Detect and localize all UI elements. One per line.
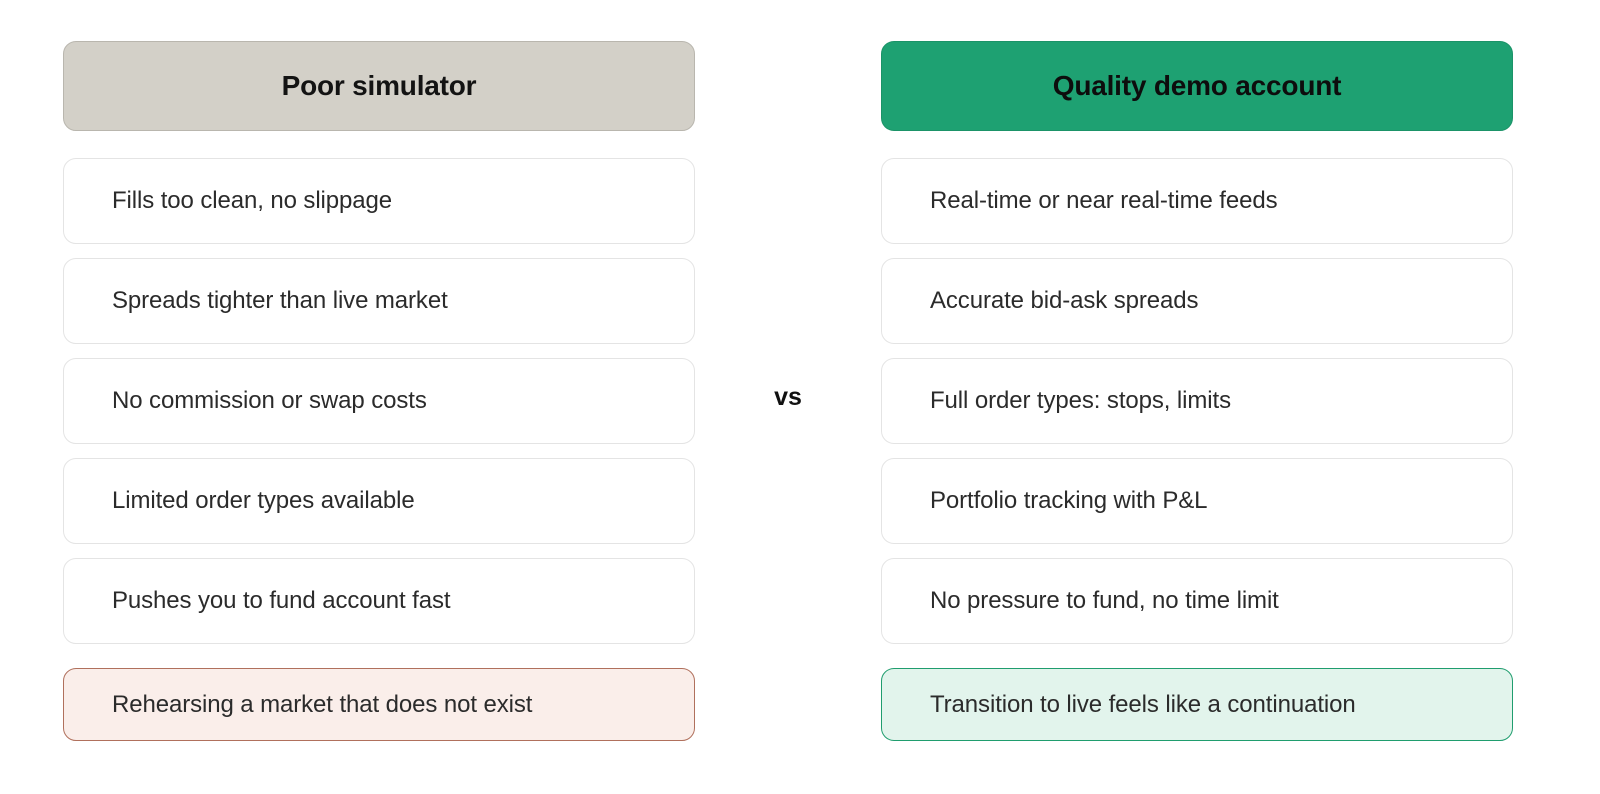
list-item-highlighted-conclusion: Transition to live feels like a continua… [881,668,1513,741]
list-item: No pressure to fund, no time limit [881,558,1513,644]
list-item: No commission or swap costs [63,358,695,444]
list-item: Accurate bid-ask spreads [881,258,1513,344]
list-item: Spreads tighter than live market [63,258,695,344]
list-item: Fills too clean, no slippage [63,158,695,244]
comparison-column-poor-simulator: Poor simulator Fills too clean, no slipp… [63,41,695,741]
list-item: Real-time or near real-time feeds [881,158,1513,244]
list-item: Pushes you to fund account fast [63,558,695,644]
vs-divider: vs [695,0,881,794]
vs-label: vs [774,383,802,412]
column-header-poor-simulator: Poor simulator [63,41,695,131]
column-header-quality-demo-account: Quality demo account [881,41,1513,131]
comparison-diagram: Poor simulator Fills too clean, no slipp… [0,0,1600,794]
list-item: Limited order types available [63,458,695,544]
list-item-highlighted-conclusion: Rehearsing a market that does not exist [63,668,695,741]
comparison-column-quality-demo-account: Quality demo account Real-time or near r… [881,41,1513,741]
list-item: Full order types: stops, limits [881,358,1513,444]
list-item: Portfolio tracking with P&L [881,458,1513,544]
